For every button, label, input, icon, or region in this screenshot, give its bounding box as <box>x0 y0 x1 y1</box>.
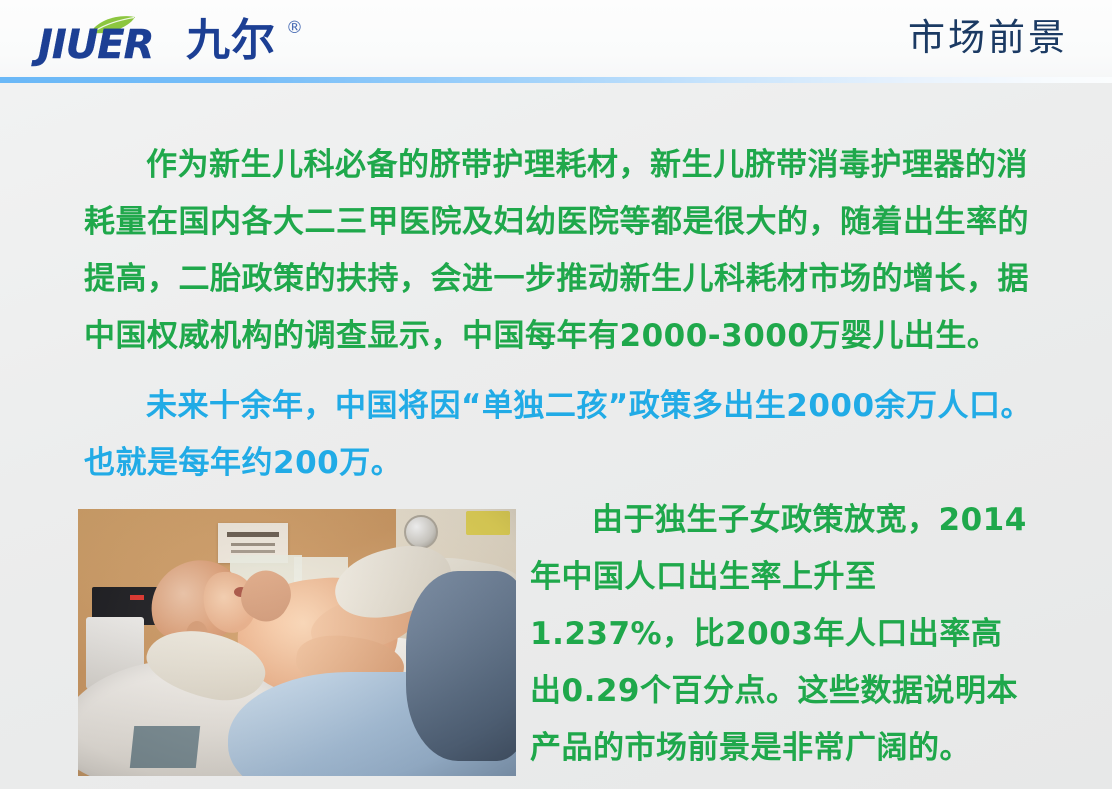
slide-root: JIUER 九尔 ® 市场前景 作为新生儿科必备的脐带护理耗材，新生儿脐带消毒护… <box>0 0 1112 789</box>
registered-trademark-icon: ® <box>286 20 303 37</box>
logo-latin-text: JIUER <box>38 25 153 65</box>
brand-logo: JIUER 九尔 ® <box>38 14 338 72</box>
page-title: 市场前景 <box>908 16 1068 60</box>
paragraph-policy-forecast: 未来十余年，中国将因“单独二孩”政策多出生2000余万人口。也就是每年约200万… <box>84 378 1044 492</box>
paragraph-birthrate-stats: 由于独生子女政策放宽，2014年中国人口出生率上升至1.237%，比2003年人… <box>530 492 1030 777</box>
photo-illustration <box>78 509 516 776</box>
slide-header: JIUER 九尔 ® 市场前景 <box>0 0 1112 78</box>
paragraph-market-demand: 作为新生儿科必备的脐带护理耗材，新生儿脐带消毒护理器的消耗量在国内各大二三甲医院… <box>84 137 1034 365</box>
header-divider <box>0 77 1112 83</box>
newborn-baby-photo <box>78 509 516 776</box>
logo-cjk-text: 九尔 <box>186 19 276 63</box>
photo-vignette <box>78 509 516 776</box>
